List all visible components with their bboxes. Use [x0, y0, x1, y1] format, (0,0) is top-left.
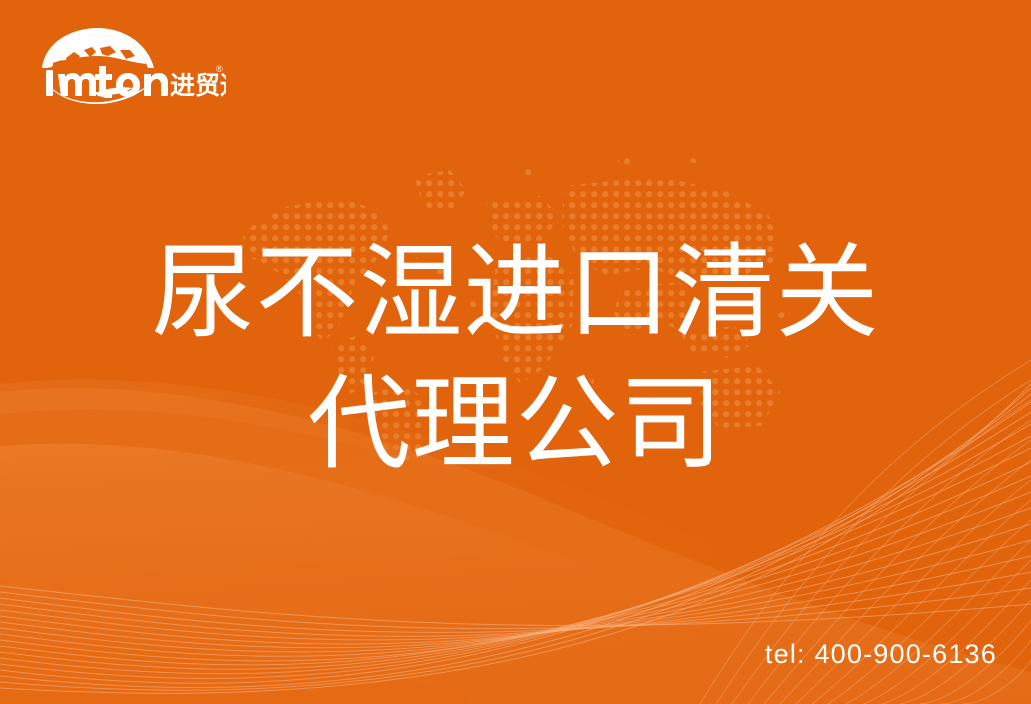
headline-line-2: 代理公司 — [0, 359, 1031, 490]
contact-phone[interactable]: tel: 400-900-6136 — [765, 639, 997, 670]
logo-chinese-name: 进贸通 — [170, 72, 226, 100]
promo-banner: 进贸通 ® 尿不湿进口清关 代理公司 tel: 400-900-6136 — [0, 0, 1031, 704]
registered-trademark-icon: ® — [216, 64, 223, 74]
imton-logo[interactable]: 进贸通 ® — [36, 26, 226, 104]
headline: 尿不湿进口清关 代理公司 — [0, 228, 1031, 490]
headline-line-1: 尿不湿进口清关 — [0, 228, 1031, 359]
globe-arc-icon — [42, 28, 154, 68]
